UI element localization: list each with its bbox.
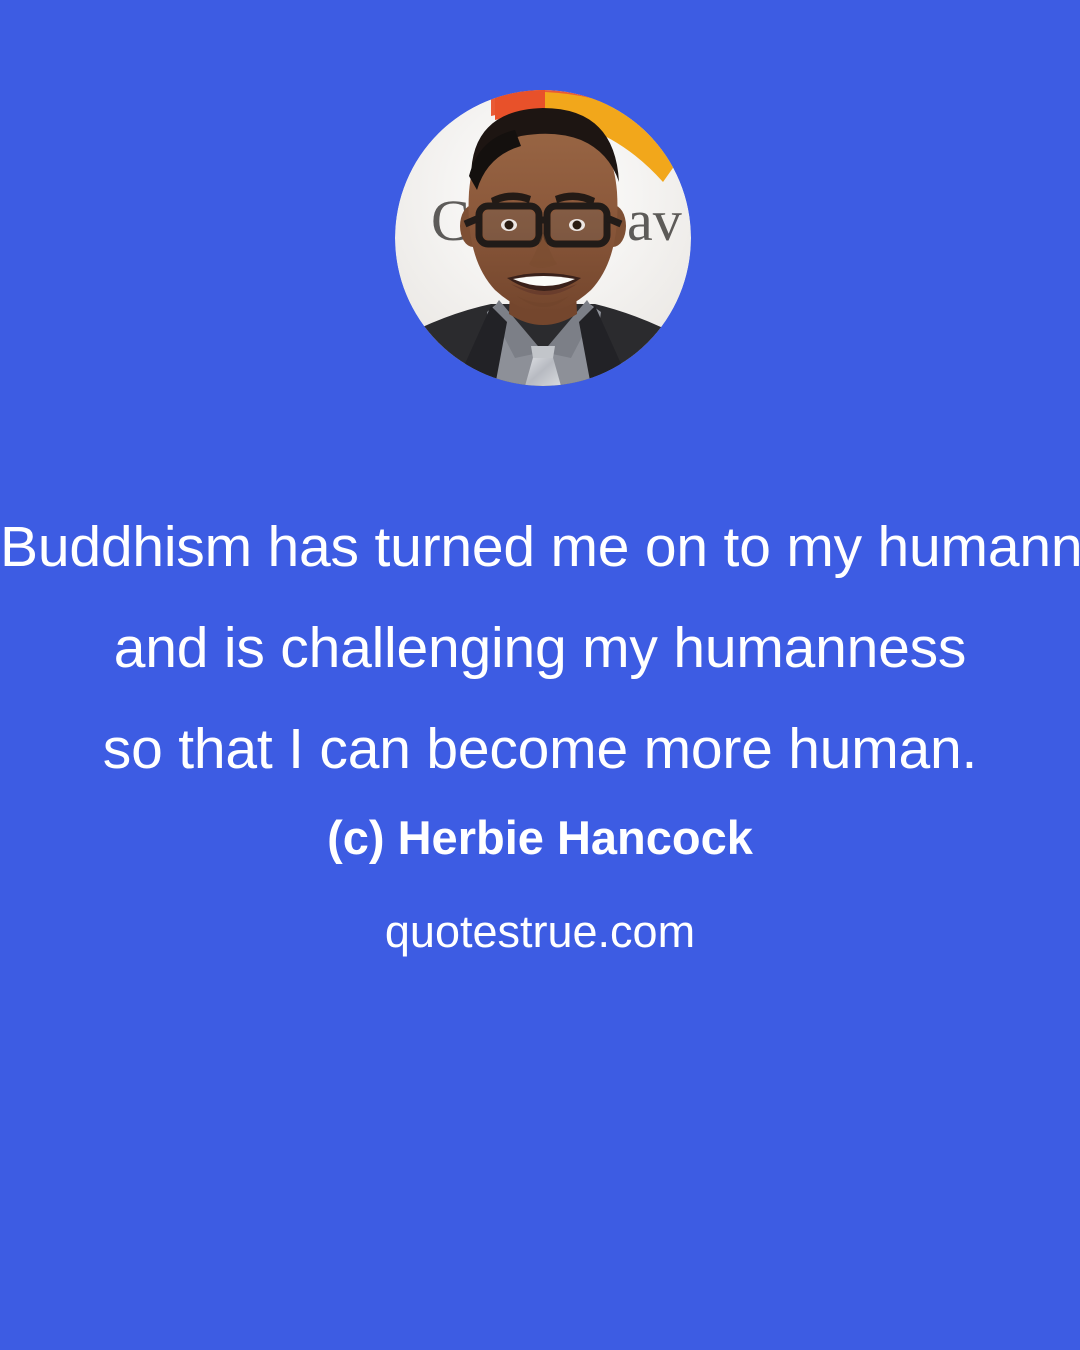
quote-card: C av bbox=[0, 0, 1080, 1350]
quote-line: and is challenging my humanness bbox=[0, 598, 1080, 699]
quote-attribution: (c) Herbie Hancock bbox=[0, 809, 1080, 867]
svg-text:av: av bbox=[627, 188, 682, 253]
source-website: quotestrue.com bbox=[0, 903, 1080, 961]
avatar-portrait-illustration: C av bbox=[395, 90, 691, 386]
quote-line: so that I can become more human. bbox=[0, 699, 1080, 800]
quote-text: Buddhism has turned me on to my humannes… bbox=[0, 497, 1080, 800]
quote-line: Buddhism has turned me on to my humannes… bbox=[0, 497, 1080, 598]
avatar: C av bbox=[395, 90, 691, 386]
